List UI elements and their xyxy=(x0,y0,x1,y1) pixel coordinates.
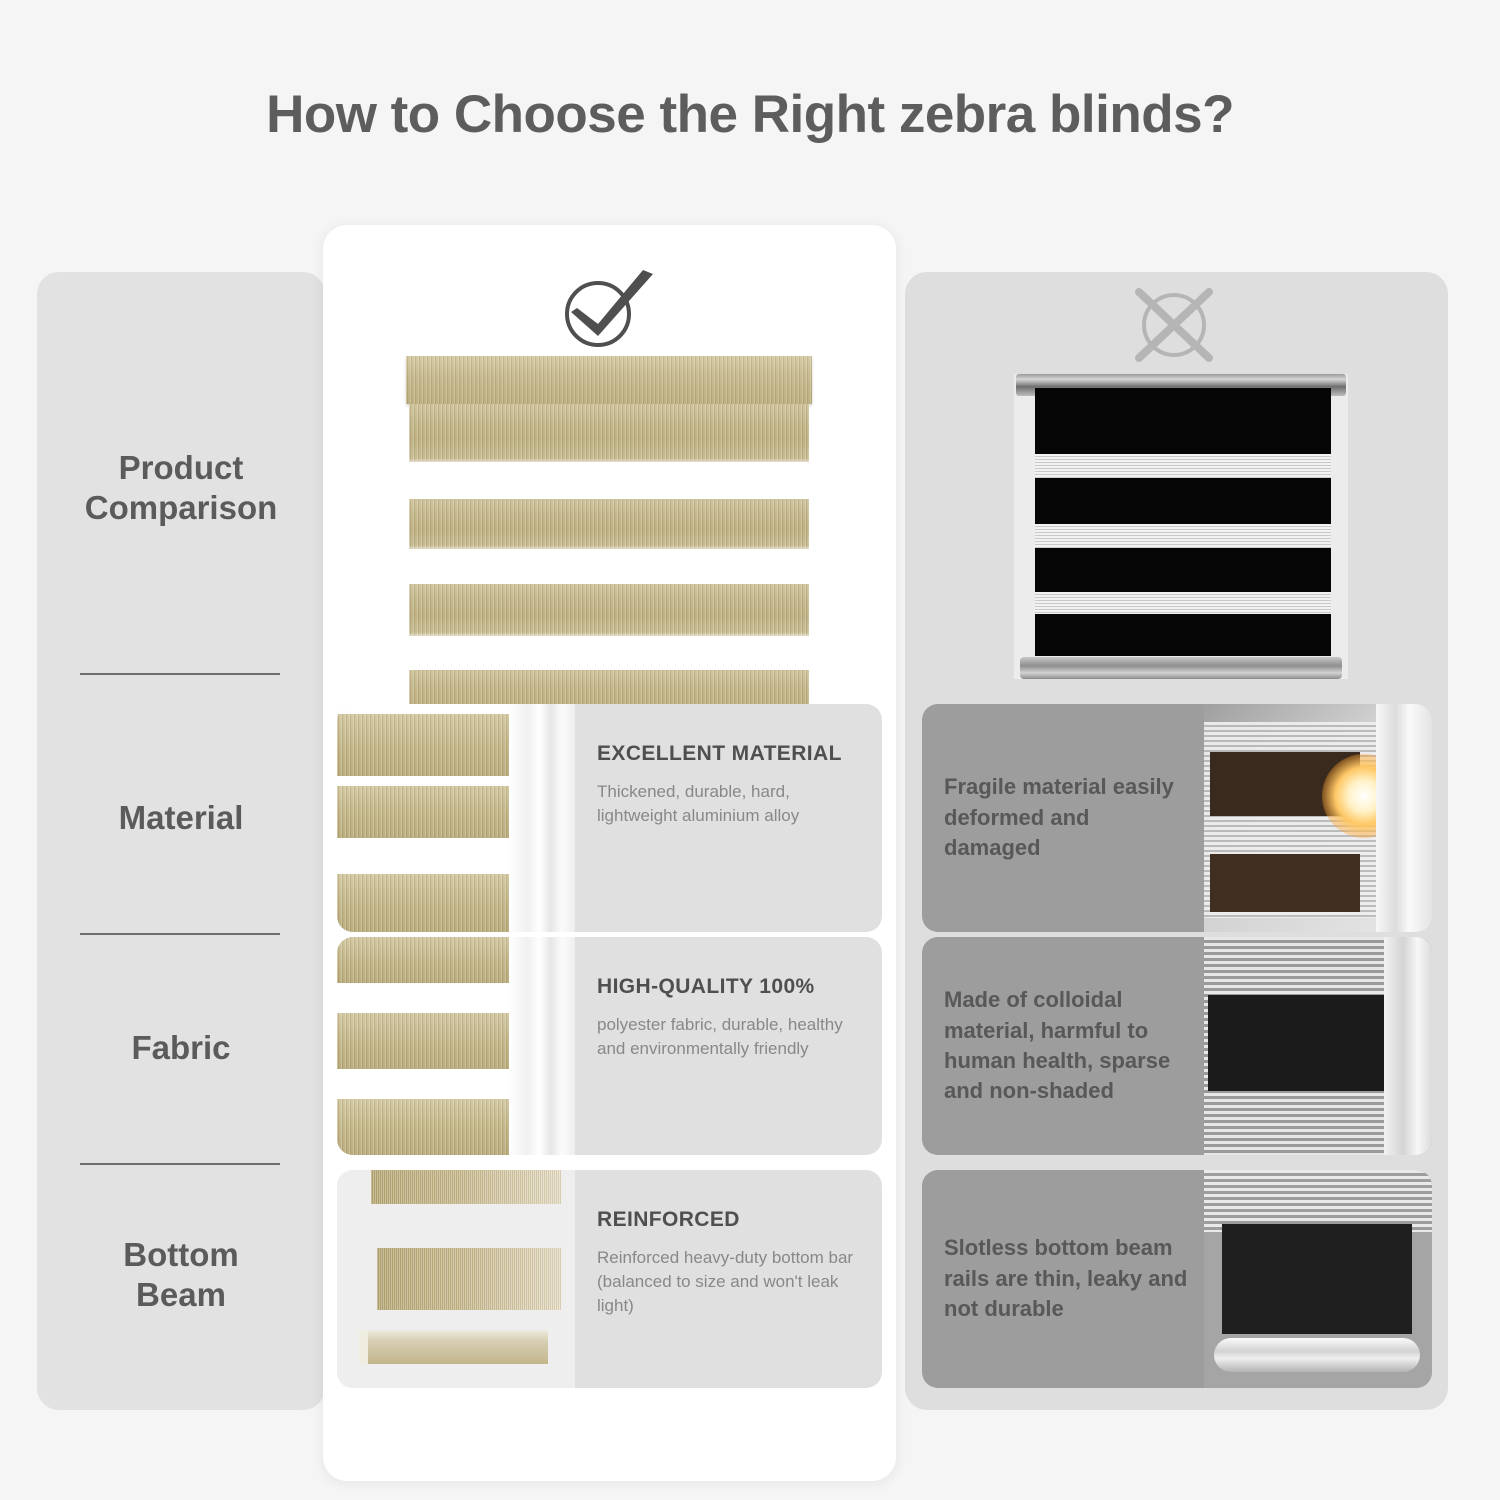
blind-band-dark xyxy=(1035,614,1331,656)
blind-band-light xyxy=(1035,454,1331,478)
good-feature-heading: HIGH-QUALITY 100% xyxy=(597,975,860,999)
good-feature-heading: REINFORCED xyxy=(597,1208,860,1232)
bad-feature-fabric: Made of colloidal material, harmful to h… xyxy=(922,937,1432,1155)
blind-headrail xyxy=(406,356,812,404)
good-feature-body: Reinforced heavy-duty bottom bar (balanc… xyxy=(597,1246,860,1318)
bad-feature-photo-bottom-beam xyxy=(1204,1170,1432,1388)
good-feature-body: polyester fabric, durable, healthy and e… xyxy=(597,1013,860,1061)
row-label-line2: Comparison xyxy=(37,488,325,528)
good-feature-text-fabric: HIGH-QUALITY 100% polyester fabric, dura… xyxy=(575,937,882,1155)
good-feature-text-material: EXCELLENT MATERIAL Thickened, durable, h… xyxy=(575,704,882,932)
row-label-line1: Material xyxy=(37,798,325,838)
good-feature-body: Thickened, durable, hard, lightweight al… xyxy=(597,780,860,828)
blind-slat xyxy=(409,404,809,462)
blind-band-dark xyxy=(1035,548,1331,592)
blind-fabric xyxy=(1035,388,1331,656)
row-divider-1 xyxy=(80,673,280,675)
bad-feature-heading: Made of colloidal material, harmful to h… xyxy=(944,985,1188,1106)
bad-feature-bottom-beam: Slotless bottom beam rails are thin, lea… xyxy=(922,1170,1432,1388)
blind-band-dark xyxy=(1035,478,1331,524)
bad-feature-text-fabric: Made of colloidal material, harmful to h… xyxy=(922,937,1204,1155)
good-feature-fabric: HIGH-QUALITY 100% polyester fabric, dura… xyxy=(337,937,882,1155)
good-feature-photo-fabric xyxy=(337,937,575,1155)
bad-feature-photo-fabric xyxy=(1204,937,1432,1155)
good-feature-text-bottom-beam: REINFORCED Reinforced heavy-duty bottom … xyxy=(575,1170,882,1388)
bad-feature-photo-material xyxy=(1204,704,1432,932)
row-label-bottom-beam: Bottom Beam xyxy=(37,1235,325,1316)
row-divider-3 xyxy=(80,1163,280,1165)
row-label-line2: Beam xyxy=(37,1275,325,1315)
row-label-product-comparison: Product Comparison xyxy=(37,448,325,529)
check-circle-icon xyxy=(553,268,663,350)
page-title: How to Choose the Right zebra blinds? xyxy=(0,84,1500,145)
good-feature-photo-bottom-beam xyxy=(337,1170,575,1388)
row-label-line1: Product xyxy=(37,448,325,488)
row-label-fabric: Fabric xyxy=(37,1028,325,1068)
blind-band-light xyxy=(1035,592,1331,614)
blind-band-dark xyxy=(1035,388,1331,454)
hero-bad-blind xyxy=(1014,374,1348,679)
row-label-line1: Fabric xyxy=(37,1028,325,1068)
bad-feature-heading: Fragile material easily deformed and dam… xyxy=(944,772,1188,863)
good-feature-bottom-beam: REINFORCED Reinforced heavy-duty bottom … xyxy=(337,1170,882,1388)
blind-bottom-bar xyxy=(1020,657,1342,679)
blind-slat xyxy=(409,499,809,549)
bad-feature-heading: Slotless bottom beam rails are thin, lea… xyxy=(944,1233,1188,1324)
bad-feature-text-material: Fragile material easily deformed and dam… xyxy=(922,704,1204,932)
row-label-material: Material xyxy=(37,798,325,838)
good-feature-heading: EXCELLENT MATERIAL xyxy=(597,742,860,766)
bad-feature-material: Fragile material easily deformed and dam… xyxy=(922,704,1432,932)
blind-slat xyxy=(409,584,809,636)
cross-circle-icon xyxy=(1122,286,1226,364)
row-divider-2 xyxy=(80,933,280,935)
row-label-line1: Bottom xyxy=(37,1235,325,1275)
blind-band-light xyxy=(1035,524,1331,548)
hero-good-blind xyxy=(409,356,809,694)
good-feature-photo-material xyxy=(337,704,575,932)
good-feature-material: EXCELLENT MATERIAL Thickened, durable, h… xyxy=(337,704,882,932)
bad-feature-text-bottom-beam: Slotless bottom beam rails are thin, lea… xyxy=(922,1170,1204,1388)
